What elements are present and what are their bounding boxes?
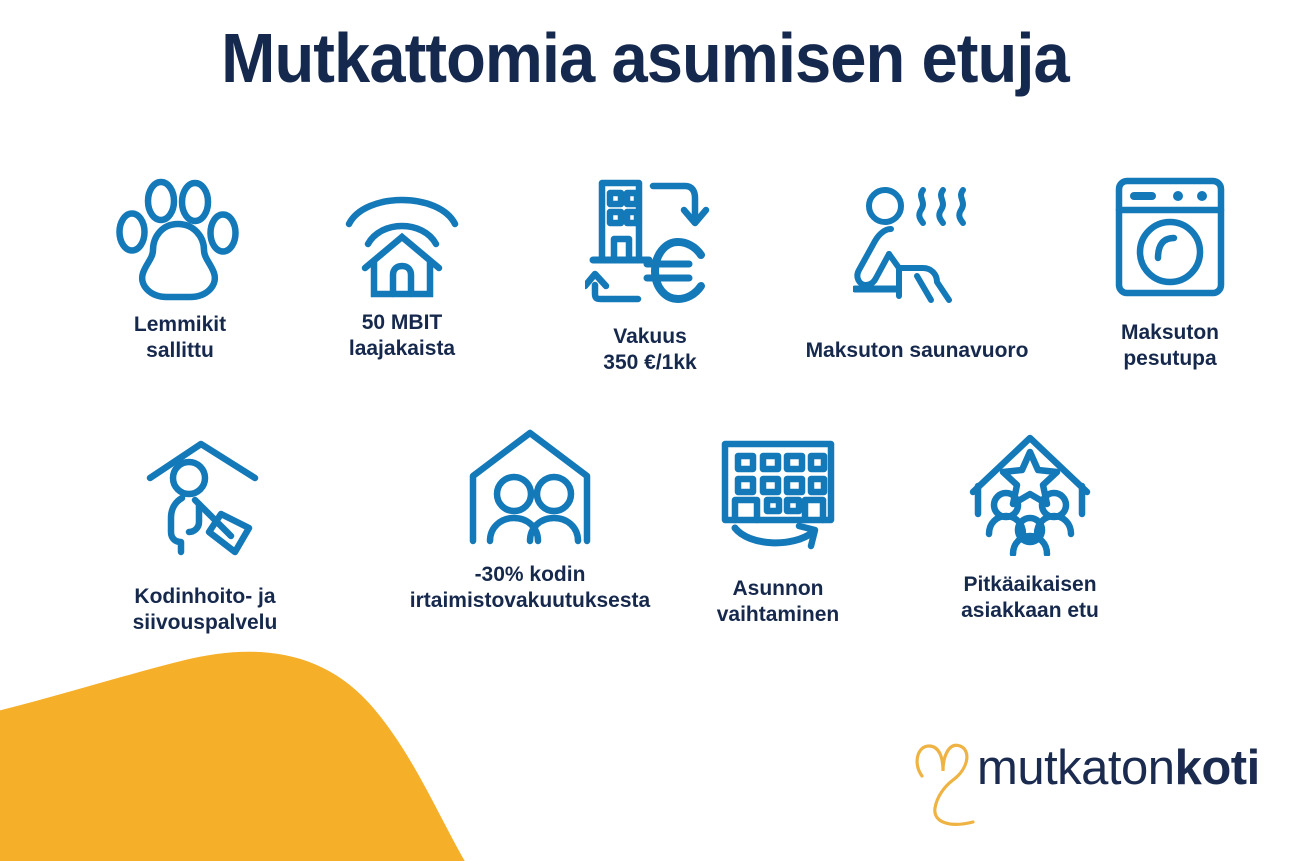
icon-container	[282, 180, 522, 302]
feature-label: 50 MBIT laajakaista	[282, 310, 522, 361]
infographic-page: Mutkattomia asumisen etuja Lemmikit sall…	[0, 0, 1290, 861]
feature-label: Pitkäaikaisen asiakkaan etu	[900, 572, 1160, 623]
brand-logo[interactable]: mutkatonkoti	[905, 726, 1275, 826]
paw-print-icon	[115, 176, 245, 304]
icon-container	[1050, 176, 1290, 298]
feature-item-sauna: Maksuton saunavuoro	[782, 184, 1052, 364]
icon-container	[60, 176, 300, 304]
feature-label: Maksuton pesutupa	[1050, 320, 1290, 371]
icon-container	[900, 430, 1160, 556]
icon-container	[370, 428, 690, 546]
washing-machine-icon	[1114, 176, 1226, 298]
house-family-icon	[468, 428, 592, 546]
feature-label: Kodinhoito- ja siivouspalvelu	[85, 584, 325, 635]
feature-item-broadband: 50 MBIT laajakaista	[282, 180, 522, 361]
feature-item-loyalty: Pitkäaikaisen asiakkaan etu	[900, 430, 1160, 623]
icon-container	[85, 440, 325, 560]
icon-container	[782, 184, 1052, 306]
apartment-block-arrow-icon	[719, 440, 837, 552]
house-star-people-icon	[967, 430, 1093, 556]
feature-item-cleaning: Kodinhoito- ja siivouspalvelu	[85, 440, 325, 635]
feature-item-insurance: -30% kodin irtaimistovakuutuksesta	[370, 428, 690, 613]
feature-label: -30% kodin irtaimistovakuutuksesta	[370, 562, 690, 613]
feature-label: Lemmikit sallittu	[60, 312, 300, 363]
logo-text-light: mutkaton	[977, 741, 1175, 795]
cleaning-person-roof-icon	[145, 440, 265, 560]
icon-container	[530, 176, 770, 304]
orange-blob-decoration	[0, 640, 520, 861]
logo-text-bold: koti	[1175, 741, 1260, 795]
sauna-person-steam-icon	[853, 184, 981, 306]
feature-label: Asunnon vaihtaminen	[668, 576, 888, 627]
feature-item-pets: Lemmikit sallittu	[60, 176, 300, 363]
logo-wordmark: mutkatonkoti	[977, 740, 1260, 796]
feature-item-deposit: Vakuus 350 €/1kk	[530, 176, 770, 375]
feature-label: Maksuton saunavuoro	[782, 338, 1052, 364]
wifi-house-icon	[343, 180, 461, 302]
building-euro-exchange-icon	[585, 176, 715, 304]
page-title: Mutkattomia asumisen etuja	[45, 18, 1245, 98]
feature-item-swap: Asunnon vaihtaminen	[668, 440, 888, 627]
feature-item-laundry: Maksuton pesutupa	[1050, 176, 1290, 371]
icon-container	[668, 440, 888, 552]
feature-label: Vakuus 350 €/1kk	[530, 324, 770, 375]
